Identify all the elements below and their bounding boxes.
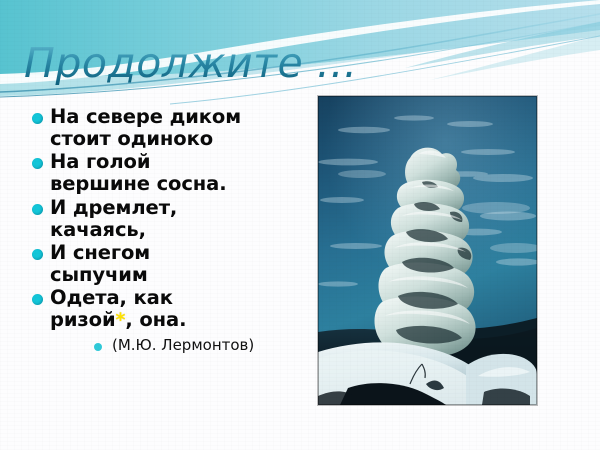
list-item-line: стоит одиноко <box>50 128 314 150</box>
list-item: И снегом сыпучим <box>28 242 314 286</box>
bullet-list-container: На севере диком стоит одиноко На голой в… <box>28 106 314 354</box>
bullet-dot-icon <box>32 204 43 215</box>
list-item-line-prefix: ризой <box>50 308 116 331</box>
list-item-line: На севере диком <box>50 106 314 128</box>
attribution-text: (М.Ю. Лермонтов) <box>112 336 254 354</box>
list-item-line: И снегом <box>50 242 314 264</box>
bullet-dot-icon <box>32 158 43 169</box>
list-item: На голой вершине сосна. <box>28 151 314 195</box>
list-item: И дремлет, качаясь, <box>28 197 314 241</box>
list-item-line: сыпучим <box>50 264 314 286</box>
sub-bullet-dot-icon <box>94 343 102 351</box>
attribution-line: (М.Ю. Лермонтов) <box>28 337 314 354</box>
bullet-dot-icon <box>32 249 43 260</box>
painting-image <box>318 96 537 405</box>
slide: Продолжите ... На севере диком стоит оди… <box>0 0 600 450</box>
bullet-dot-icon <box>32 294 43 305</box>
list-item-line: качаясь, <box>50 219 314 241</box>
list-item-line: И дремлет, <box>50 197 314 219</box>
footnote-asterisk-icon: * <box>116 309 126 331</box>
list-item-line-suffix: , она. <box>125 308 186 331</box>
list-item-line-with-footnote: ризой*, она. <box>50 309 314 332</box>
list-item-line: Одета, как <box>50 287 314 309</box>
bullet-list: На севере диком стоит одиноко На голой в… <box>28 106 314 332</box>
list-item: На севере диком стоит одиноко <box>28 106 314 150</box>
list-item: Одета, как ризой*, она. <box>28 287 314 332</box>
page-title: Продолжите ... <box>24 42 357 85</box>
bullet-dot-icon <box>32 113 43 124</box>
list-item-line: На голой <box>50 151 314 173</box>
list-item-line: вершине сосна. <box>50 173 314 195</box>
